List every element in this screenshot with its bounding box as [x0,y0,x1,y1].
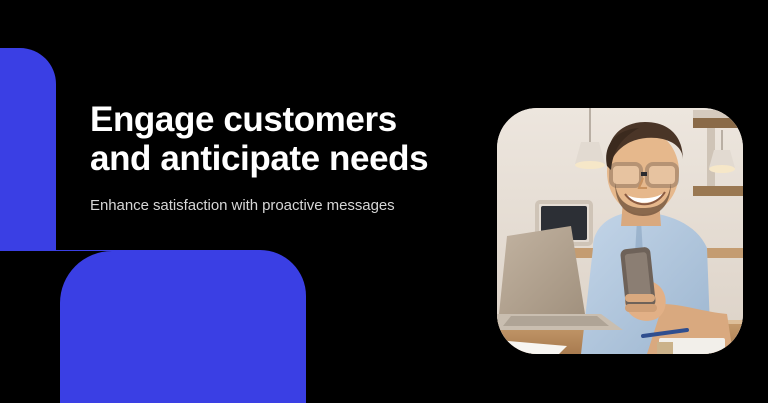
deco-upper-column [0,48,56,250]
text-block: Engage customers and anticipate needs En… [90,100,490,216]
marketing-banner: Engage customers and anticipate needs En… [0,0,768,403]
page-title: Engage customers and anticipate needs [90,100,490,178]
page-subtitle: Enhance satisfaction with proactive mess… [90,178,490,216]
office-photo-illustration [497,108,743,354]
photo-card [497,108,743,354]
deco-lower-band [0,250,306,403]
deco-black-notch [0,251,112,403]
